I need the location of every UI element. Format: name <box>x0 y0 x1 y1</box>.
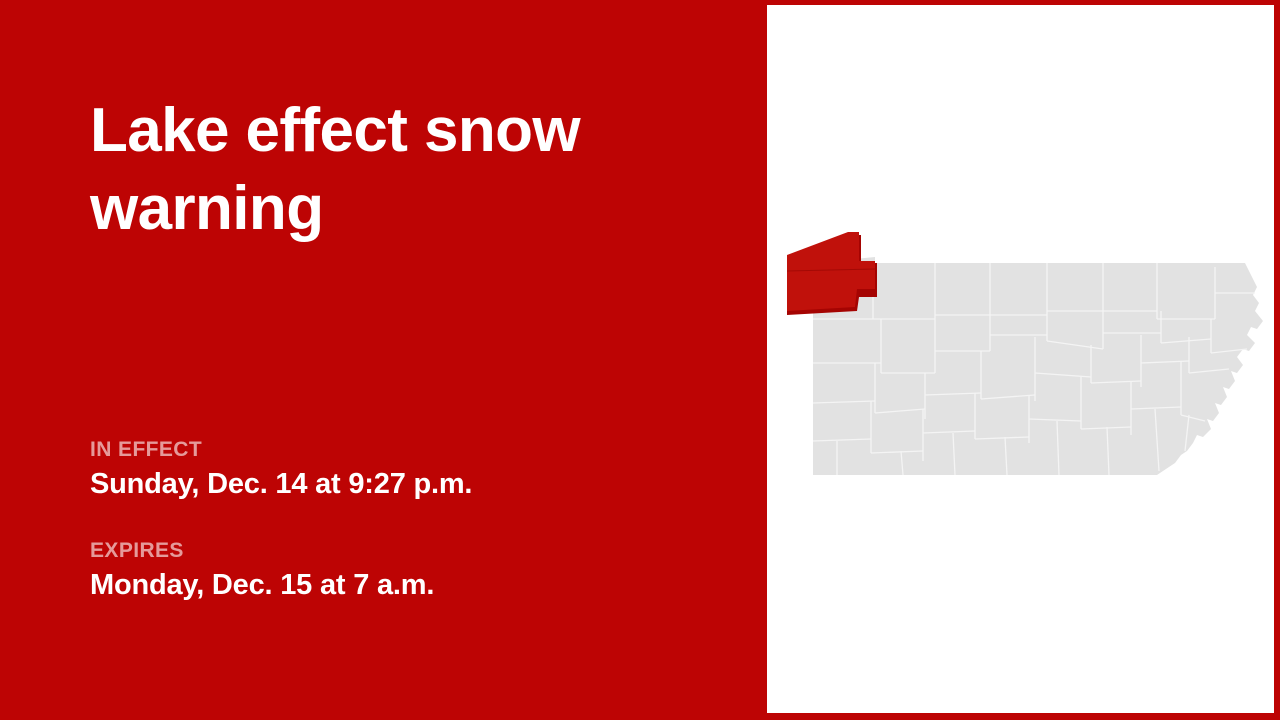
in-effect-group: IN EFFECT Sunday, Dec. 14 at 9:27 p.m. <box>90 437 710 502</box>
map-panel-surface <box>767 5 1274 713</box>
map-stage <box>767 5 1274 713</box>
expires-group: EXPIRES Monday, Dec. 15 at 7 a.m. <box>90 538 710 603</box>
alert-title: Lake effect snow warning <box>90 92 710 248</box>
in-effect-label: IN EFFECT <box>90 437 710 463</box>
expires-value: Monday, Dec. 15 at 7 a.m. <box>90 567 710 603</box>
in-effect-value: Sunday, Dec. 14 at 9:27 p.m. <box>90 466 710 502</box>
alert-text-panel: Lake effect snow warning IN EFFECT Sunda… <box>0 0 767 720</box>
alert-times-block: IN EFFECT Sunday, Dec. 14 at 9:27 p.m. E… <box>90 437 710 603</box>
pennsylvania-county-map <box>785 223 1269 511</box>
weather-alert-card: Lake effect snow warning IN EFFECT Sunda… <box>0 0 1280 720</box>
alert-map-panel <box>767 0 1280 720</box>
expires-label: EXPIRES <box>90 538 710 564</box>
